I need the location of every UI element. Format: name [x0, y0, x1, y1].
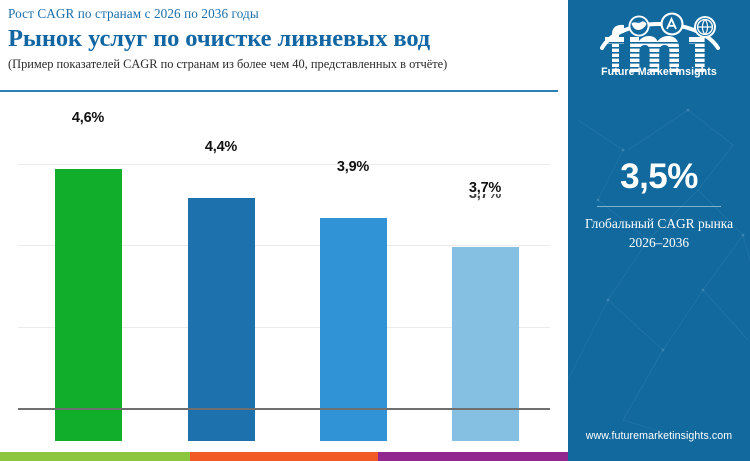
fmi-logo-tagline: Future Market Insights: [568, 66, 750, 78]
strip-segment-green: [0, 452, 190, 461]
header-divider: [0, 90, 558, 92]
brand-sidebar: Future Market Insights 3,5% Глобальный C…: [568, 0, 750, 461]
strip-segment-blue: [568, 452, 750, 461]
header-subtitle: (Пример показателей CAGR по странам из б…: [8, 57, 560, 72]
website-url[interactable]: www.futuremarketinsights.com: [568, 430, 750, 442]
bar-south-korea[interactable]: [55, 169, 122, 441]
bar-chart: 4,6% 4,4% 3,9% 3,7% 3,7% South Korea Bra…: [0, 96, 568, 441]
strip-segment-orange: [190, 452, 378, 461]
stat-divider: [597, 206, 721, 207]
infographic-page: Рост CAGR по странам с 2026 по 2036 годы…: [0, 0, 750, 461]
bar-united-kingdom[interactable]: [452, 247, 519, 441]
global-cagr-description-line1: Глобальный CAGR рынка: [568, 214, 750, 233]
page-title: Рынок услуг по очистке ливневых вод: [8, 25, 560, 53]
bar-value-brazil: 4,4%: [161, 139, 281, 155]
x-axis-line: [18, 408, 550, 410]
globe-icon-group: [629, 13, 717, 39]
header-kicker: Рост CAGR по странам с 2026 по 2036 годы: [8, 6, 560, 22]
bar-value-united-kingdom: 3,7%: [425, 180, 545, 196]
chart-panel: Рост CAGR по странам с 2026 по 2036 годы…: [0, 0, 568, 461]
gridline-1: [18, 164, 550, 165]
strip-segment-purple: [378, 452, 568, 461]
fmi-logo: [568, 8, 750, 94]
bar-brazil[interactable]: [188, 198, 255, 441]
footer-color-strip: [0, 452, 750, 461]
header-block: Рост CAGR по странам с 2026 по 2036 годы…: [8, 6, 560, 72]
global-cagr-value: 3,5%: [568, 157, 750, 197]
global-cagr-description: Глобальный CAGR рынка 2026–2036: [568, 214, 750, 253]
bar-value-india: 3,9%: [293, 159, 413, 175]
global-cagr-description-line2: 2026–2036: [568, 233, 750, 252]
bar-value-south-korea: 4,6%: [28, 110, 148, 126]
